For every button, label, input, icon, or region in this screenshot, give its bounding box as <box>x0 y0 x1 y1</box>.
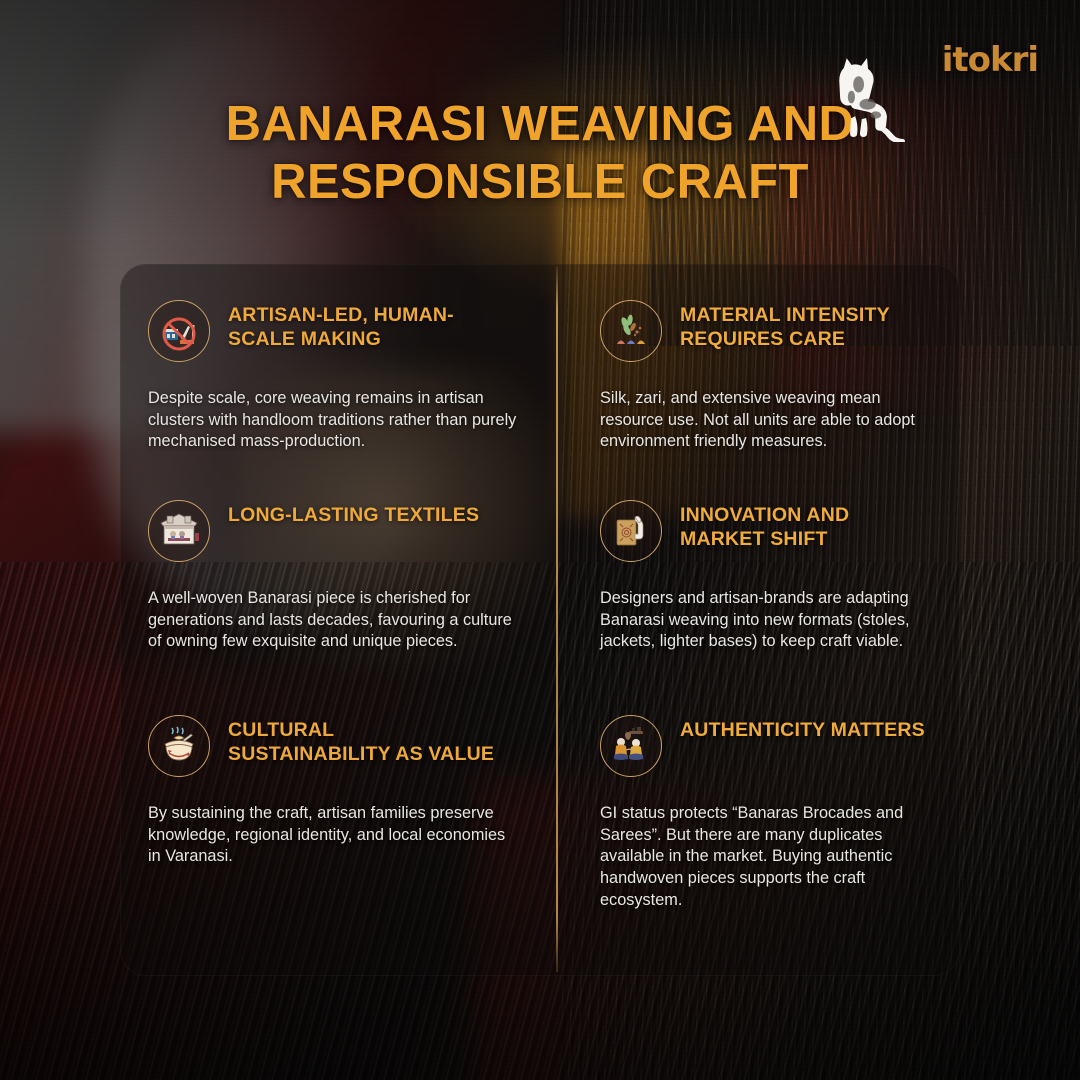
brand-logo-itokri[interactable]: itokri <box>942 40 1038 80</box>
point-header: ARTISAN-LED, HUMAN-SCALE MAKING <box>148 300 522 362</box>
infographic-canvas: itokri BANARASI WEAVING AND RESPONSIBLE … <box>0 0 1080 1080</box>
point-title: LONG-LASTING TEXTILES <box>228 500 479 528</box>
point-title: CULTURAL SUSTAINABILITY AS VALUE <box>228 715 498 767</box>
point-title: ARTISAN-LED, HUMAN-SCALE MAKING <box>228 300 498 352</box>
point-item-cultural-sustainability: CULTURAL SUSTAINABILITY AS VALUE By sust… <box>120 679 556 976</box>
no-mass-production-icon <box>148 300 210 362</box>
point-item-long-lasting-textiles: LONG-LASTING TEXTILES A well-woven Banar… <box>120 464 556 679</box>
page-title: BANARASI WEAVING AND RESPONSIBLE CRAFT <box>0 96 1080 212</box>
point-title: INNOVATION AND MARKET SHIFT <box>680 500 930 552</box>
craft-shop-stall-icon <box>148 500 210 562</box>
point-header: AUTHENTICITY MATTERS <box>600 715 946 777</box>
point-header: INNOVATION AND MARKET SHIFT <box>600 500 946 562</box>
cat-illustration-icon <box>818 52 910 142</box>
two-seated-artisans-icon <box>600 715 662 777</box>
point-body: GI status protects “Banaras Brocades and… <box>600 803 946 911</box>
hand-holding-brocade-icon <box>600 500 662 562</box>
point-item-authenticity-matters: AUTHENTICITY MATTERS GI status protects … <box>556 679 960 976</box>
point-item-material-intensity: MATERIAL INTENSITY REQUIRES CARE Silk, z… <box>556 264 960 464</box>
point-header: CULTURAL SUSTAINABILITY AS VALUE <box>148 715 522 777</box>
point-title: MATERIAL INTENSITY REQUIRES CARE <box>680 300 930 352</box>
point-item-artisan-led: ARTISAN-LED, HUMAN-SCALE MAKING Despite … <box>120 264 556 464</box>
steaming-pot-icon <box>148 715 210 777</box>
point-body: By sustaining the craft, artisan familie… <box>148 803 522 868</box>
point-title: AUTHENTICITY MATTERS <box>680 715 925 743</box>
point-body: Silk, zari, and extensive weaving mean r… <box>600 388 946 453</box>
point-header: MATERIAL INTENSITY REQUIRES CARE <box>600 300 946 362</box>
point-body: A well-woven Banarasi piece is cherished… <box>148 588 522 653</box>
point-body: Despite scale, core weaving remains in a… <box>148 388 522 453</box>
point-body: Designers and artisan-brands are adaptin… <box>600 588 946 653</box>
point-header: LONG-LASTING TEXTILES <box>148 500 522 562</box>
title-block: BANARASI WEAVING AND RESPONSIBLE CRAFT <box>0 96 1080 212</box>
points-grid: ARTISAN-LED, HUMAN-SCALE MAKING Despite … <box>120 264 960 976</box>
column-divider <box>556 266 558 972</box>
natural-dye-leaves-icon <box>600 300 662 362</box>
point-item-innovation-market-shift: INNOVATION AND MARKET SHIFT Designers an… <box>556 464 960 679</box>
